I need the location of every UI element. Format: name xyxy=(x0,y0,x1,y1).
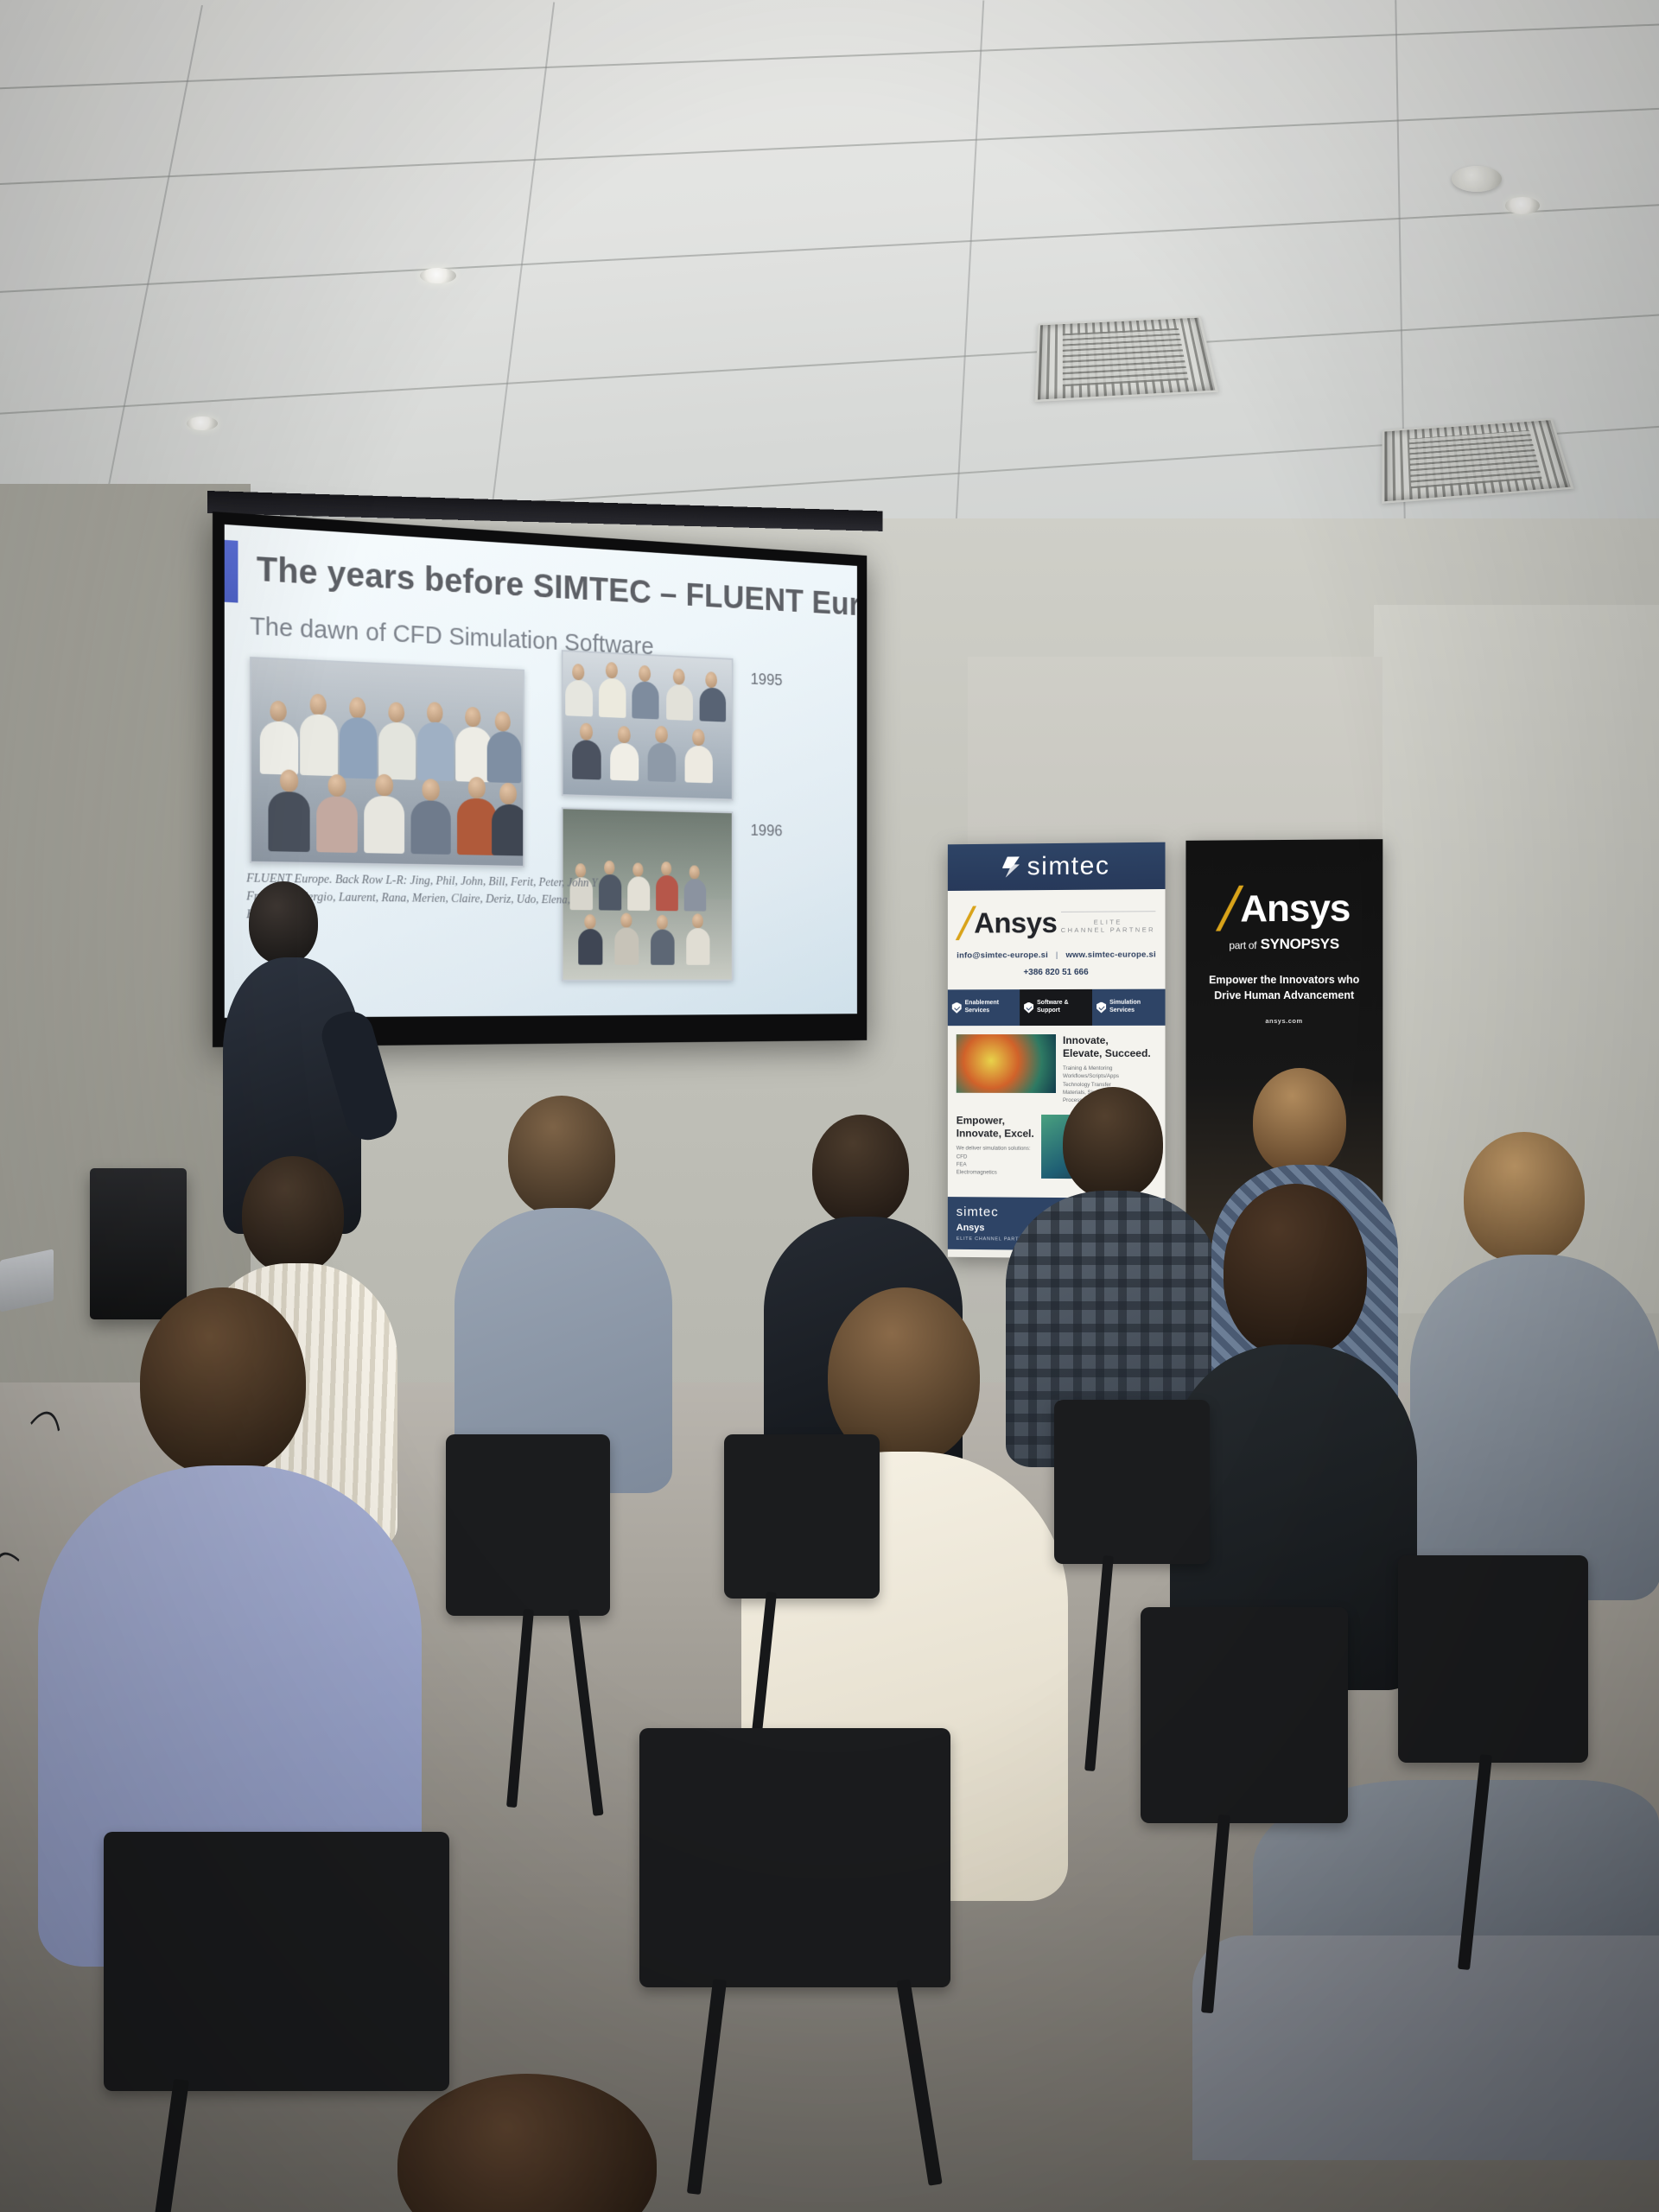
shield-check-icon xyxy=(1096,1001,1106,1013)
torso xyxy=(1410,1255,1659,1600)
air-vent xyxy=(1035,316,1219,402)
block1-heading-line2: Elevate, Succeed. xyxy=(1063,1047,1151,1059)
head xyxy=(140,1287,306,1476)
cfd-simulation-image xyxy=(957,1034,1056,1093)
head xyxy=(1464,1132,1585,1263)
ceiling xyxy=(0,0,1659,553)
group-photo-1995 xyxy=(562,650,734,800)
tagline-line2: Drive Human Advancement xyxy=(1214,989,1354,1001)
head xyxy=(1224,1184,1367,1357)
audience-person-grey-right xyxy=(1427,1132,1643,1581)
block1-bullet-0: Training & Mentoring xyxy=(1063,1065,1151,1072)
chair xyxy=(1141,1607,1348,1823)
chip-1-line2: Support xyxy=(1037,1007,1060,1014)
partner-tier: ELITE CHANNEL PARTNER xyxy=(1061,911,1155,934)
ansys-partner-logo: ╱Ansys xyxy=(957,906,1057,940)
room-scene: The years before SIMTEC – FLUENT Europe … xyxy=(0,0,1659,2212)
head xyxy=(242,1156,344,1274)
block2-heading-line1: Empower, xyxy=(957,1115,1005,1127)
block1-heading: Innovate, Elevate, Succeed. xyxy=(1063,1034,1151,1060)
block1-heading-line1: Innovate, xyxy=(1063,1034,1109,1046)
ansys-chevron-icon: ╱ xyxy=(1218,887,1240,930)
ansys-part-of-synopsys: part of SYNOPSYS xyxy=(1185,936,1382,954)
tagline-line1: Empower the Innovators who xyxy=(1209,974,1359,986)
chair xyxy=(446,1434,610,1616)
slide-title: The years before SIMTEC – FLUENT Europe xyxy=(257,549,857,626)
air-vent xyxy=(1382,418,1573,504)
simtec-email: info@simtec-europe.si xyxy=(957,950,1048,960)
head xyxy=(508,1096,615,1217)
chair xyxy=(1398,1555,1588,1763)
chip-1-line1: Software & xyxy=(1037,1000,1069,1006)
simtec-website: www.simtec-europe.si xyxy=(1065,950,1155,960)
simtec-logo-icon xyxy=(1002,856,1020,877)
chip-0-line2: Services xyxy=(965,1007,990,1014)
downlight-icon xyxy=(1505,197,1540,214)
partner-tier-line2: CHANNEL PARTNER xyxy=(1061,925,1155,934)
contact-separator: | xyxy=(1056,950,1058,960)
synopsys-wordmark: SYNOPSYS xyxy=(1261,936,1339,952)
chair xyxy=(1054,1400,1210,1564)
simtec-phone: +386 820 51 666 xyxy=(957,968,1157,978)
ansys-logo: ╱Ansys xyxy=(1185,886,1382,931)
chair xyxy=(639,1728,950,1987)
chip-software-support: Software & Support xyxy=(1020,989,1092,1026)
head xyxy=(1063,1087,1163,1199)
simtec-service-chips: Enablement Services Software & Support S… xyxy=(948,989,1166,1027)
chip-simulation-services: Simulation Services xyxy=(1092,989,1166,1026)
head xyxy=(1253,1068,1346,1175)
simtec-banner-contact-block: ╱Ansys ELITE CHANNEL PARTNER info@simtec… xyxy=(948,889,1166,989)
audience-person-curly-hair xyxy=(1182,1184,1407,1668)
downlight-icon xyxy=(420,268,456,283)
year-label-1996: 1996 xyxy=(751,822,783,841)
chair xyxy=(724,1434,880,1599)
presenter-head xyxy=(249,881,318,964)
smoke-detector-icon xyxy=(1452,166,1502,192)
audience-person-foreground xyxy=(372,2074,683,2212)
audience-person-blue-shirt xyxy=(467,1096,665,1484)
chip-enablement-services: Enablement Services xyxy=(948,989,1020,1026)
audience-person-jeans xyxy=(1192,1780,1659,2212)
group-photo-1993 xyxy=(250,657,524,868)
chip-0-line1: Enablement xyxy=(965,1000,999,1006)
chip-2-line1: Simulation xyxy=(1109,1000,1141,1006)
part-of-label: part of xyxy=(1229,939,1256,951)
ansys-url: ansys.com xyxy=(1185,1017,1382,1025)
downlight-icon xyxy=(187,416,218,430)
simtec-wordmark: simtec xyxy=(1027,851,1110,881)
simtec-contact-row: info@simtec-europe.si | www.simtec-europ… xyxy=(957,950,1157,960)
head xyxy=(812,1115,909,1225)
block1-bullet-1: Workflows/Scripts/Apps xyxy=(1063,1072,1151,1080)
head xyxy=(397,2074,657,2212)
slide-accent-bar xyxy=(225,540,238,603)
shield-check-icon xyxy=(952,1002,962,1014)
legs xyxy=(1192,1935,1659,2160)
chair xyxy=(104,1832,449,2091)
year-label-1995: 1995 xyxy=(751,671,783,690)
chip-2-line2: Services xyxy=(1109,1007,1135,1014)
simtec-banner-header: simtec xyxy=(948,842,1166,891)
ansys-tagline: Empower the Innovators who Drive Human A… xyxy=(1185,972,1382,1004)
shield-check-icon xyxy=(1024,1002,1033,1014)
